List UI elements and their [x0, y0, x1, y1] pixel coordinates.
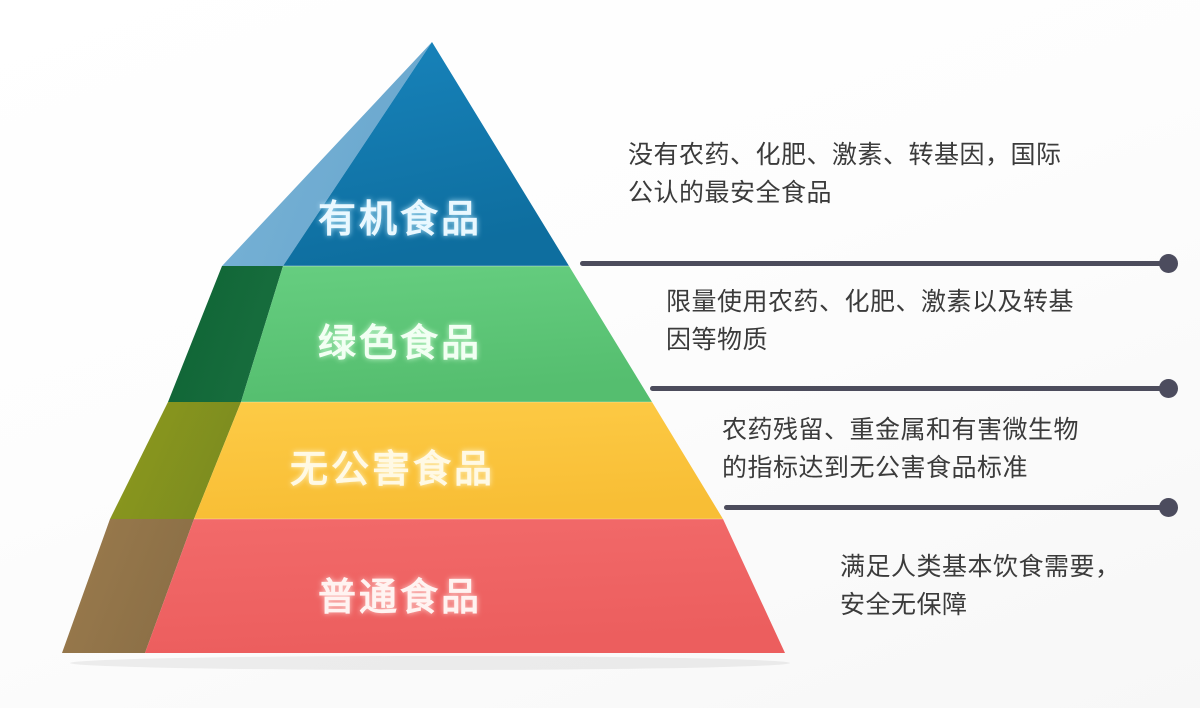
infographic-canvas: 有机食品 绿色食品 无公害食品 普通食品 没有农药、化肥、激素、转基因，国际 公…	[0, 0, 1200, 708]
connector-dot-3	[1159, 498, 1178, 517]
connector-line-3	[724, 505, 1172, 510]
tier-face-green	[241, 266, 652, 402]
connector-line-1	[580, 261, 1172, 266]
tier-face-ordinary	[145, 519, 785, 653]
description-organic: 没有农药、化肥、激素、转基因，国际 公认的最安全食品	[628, 136, 1188, 212]
description-ordinary-food: 满足人类基本饮食需要， 安全无保障	[840, 548, 1190, 624]
connector-line-2	[650, 386, 1172, 391]
description-green-food: 限量使用农药、化肥、激素以及转基 因等物质	[666, 283, 1191, 359]
connector-dot-2	[1159, 379, 1178, 398]
tier-face-pollution-free	[194, 402, 723, 519]
pyramid-ground-shadow	[70, 656, 790, 670]
connector-dot-1	[1159, 254, 1178, 273]
tier-face-organic	[283, 42, 569, 266]
description-pollution-free: 农药残留、重金属和有害微生物 的指标达到无公害食品标准	[722, 411, 1192, 487]
